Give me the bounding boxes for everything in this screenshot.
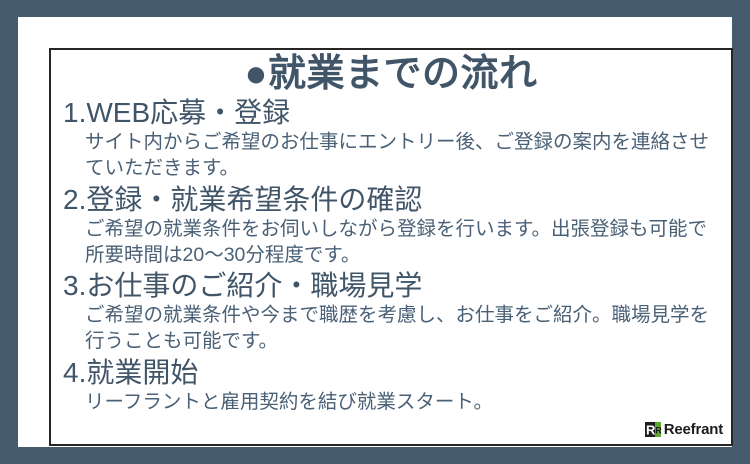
white-mat: ●就業までの流れ 1.WEB応募・登録 サイト内からご希望のお仕事にエントリー後… xyxy=(18,17,732,447)
step-heading-4: 4.就業開始 xyxy=(55,356,727,390)
content-card: ●就業までの流れ 1.WEB応募・登録 サイト内からご希望のお仕事にエントリー後… xyxy=(49,48,733,446)
step-body-1: サイト内からご希望のお仕事にエントリー後、ご登録の案内を連絡させていただきます。 xyxy=(55,130,727,181)
outer-frame: ●就業までの流れ 1.WEB応募・登録 サイト内からご希望のお仕事にエントリー後… xyxy=(0,0,750,464)
step-item-2: 2.登録・就業希望条件の確認 ご希望の就業条件をお伺いしながら登録を行います。出… xyxy=(55,183,727,269)
page-title: ●就業までの流れ xyxy=(55,54,727,95)
reefrant-r-mark-icon: R R xyxy=(645,421,662,438)
step-heading-3: 3.お仕事のご紹介・職場見学 xyxy=(55,269,727,303)
step-heading-1: 1.WEB応募・登録 xyxy=(55,96,727,130)
svg-text:R: R xyxy=(655,426,662,436)
step-item-4: 4.就業開始 リーフラントと雇用契約を結び就業スタート。 xyxy=(55,356,727,416)
step-item-3: 3.お仕事のご紹介・職場見学 ご希望の就業条件や今まで職歴を考慮し、お仕事をご紹… xyxy=(55,269,727,355)
step-body-3: ご希望の就業条件や今まで職歴を考慮し、お仕事をご紹介。職場見学を行うことも可能で… xyxy=(55,303,727,354)
brand-logo: R R Reefrant xyxy=(645,421,723,438)
brand-name: Reefrant xyxy=(664,422,723,437)
step-heading-2: 2.登録・就業希望条件の確認 xyxy=(55,183,727,217)
step-body-2: ご希望の就業条件をお伺いしながら登録を行います。出張登録も可能で所要時間は20〜… xyxy=(55,217,727,268)
step-body-4: リーフラントと雇用契約を結び就業スタート。 xyxy=(55,390,727,416)
step-item-1: 1.WEB応募・登録 サイト内からご希望のお仕事にエントリー後、ご登録の案内を連… xyxy=(55,96,727,182)
